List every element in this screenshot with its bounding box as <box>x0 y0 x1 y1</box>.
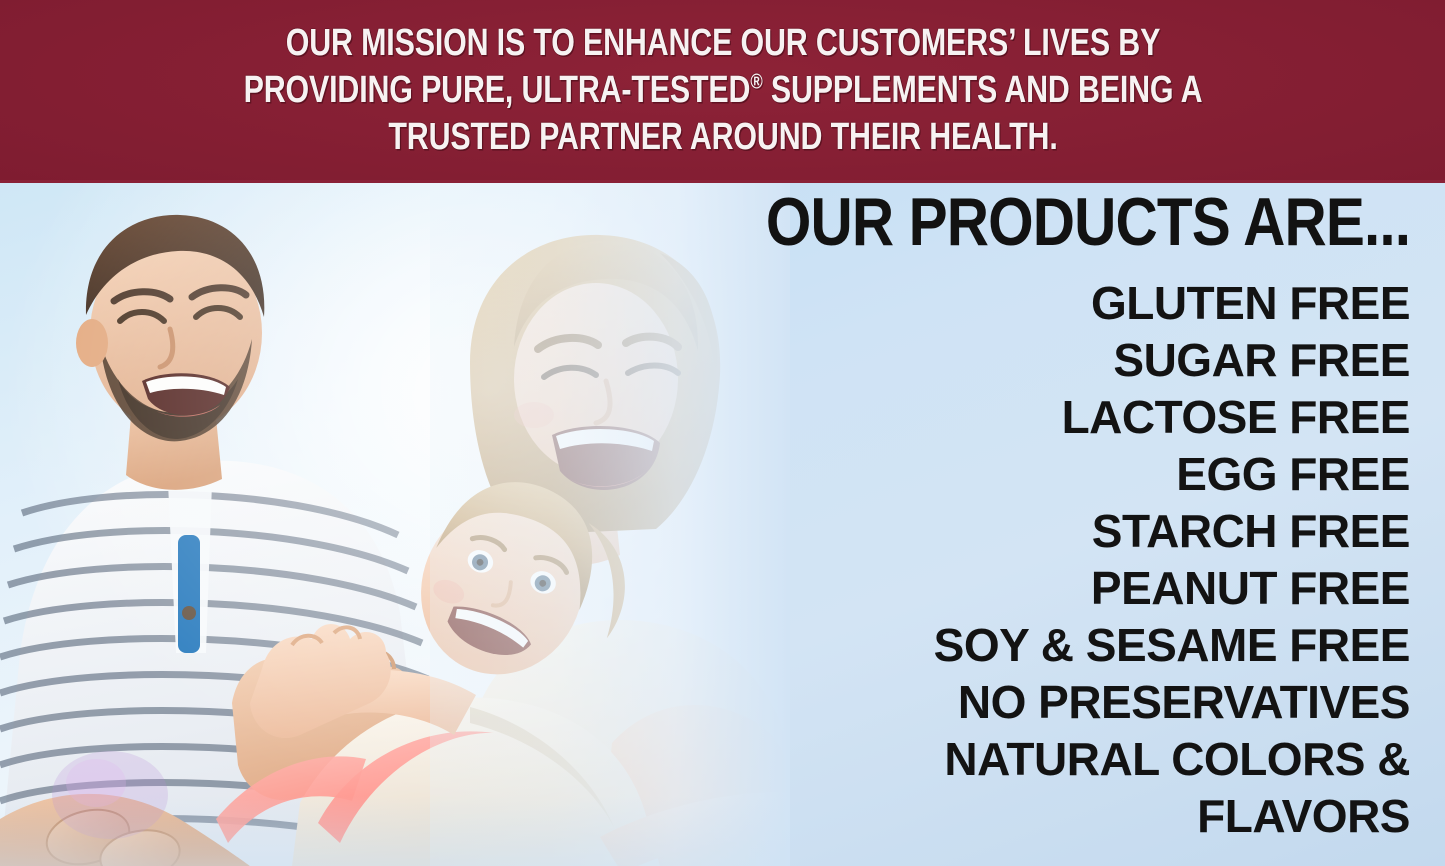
claim-item: GLUTEN FREE <box>580 275 1410 332</box>
promo-banner-image: OUR MISSION IS TO ENHANCE OUR CUSTOMERS’… <box>0 0 1445 866</box>
mission-line-2-part-b: SUPPLEMENTS AND BEING A <box>762 69 1202 111</box>
claim-item: STARCH FREE <box>580 503 1410 560</box>
mission-line-2-part-a: PROVIDING PURE, ULTRA-TESTED <box>243 69 750 111</box>
mission-line-2: PROVIDING PURE, ULTRA-TESTED® SUPPLEMENT… <box>163 67 1283 114</box>
registered-trademark-icon: ® <box>750 70 762 93</box>
claim-item: FLAVORS <box>580 788 1410 845</box>
products-heading: OUR PRODUCTS ARE... <box>766 187 1410 257</box>
claim-item: LACTOSE FREE <box>580 389 1410 446</box>
mission-statement-banner: OUR MISSION IS TO ENHANCE OUR CUSTOMERS’… <box>0 0 1445 183</box>
claim-item: NO PRESERVATIVES <box>580 674 1410 731</box>
claim-item: NATURAL COLORS & <box>580 731 1410 788</box>
claim-item: EGG FREE <box>580 446 1410 503</box>
product-claims-block: OUR PRODUCTS ARE... GLUTEN FREESUGAR FRE… <box>580 183 1410 866</box>
mission-line-1: OUR MISSION IS TO ENHANCE OUR CUSTOMERS’… <box>163 20 1283 67</box>
claim-item: SUGAR FREE <box>580 332 1410 389</box>
product-claims-list: GLUTEN FREESUGAR FREELACTOSE FREEEGG FRE… <box>580 275 1410 845</box>
products-panel: OUR PRODUCTS ARE... GLUTEN FREESUGAR FRE… <box>0 183 1445 866</box>
mission-statement-text: OUR MISSION IS TO ENHANCE OUR CUSTOMERS’… <box>163 20 1283 161</box>
claim-item: SOY & SESAME FREE <box>580 617 1410 674</box>
claim-item: PEANUT FREE <box>580 560 1410 617</box>
mission-line-3: TRUSTED PARTNER AROUND THEIR HEALTH. <box>163 114 1283 161</box>
